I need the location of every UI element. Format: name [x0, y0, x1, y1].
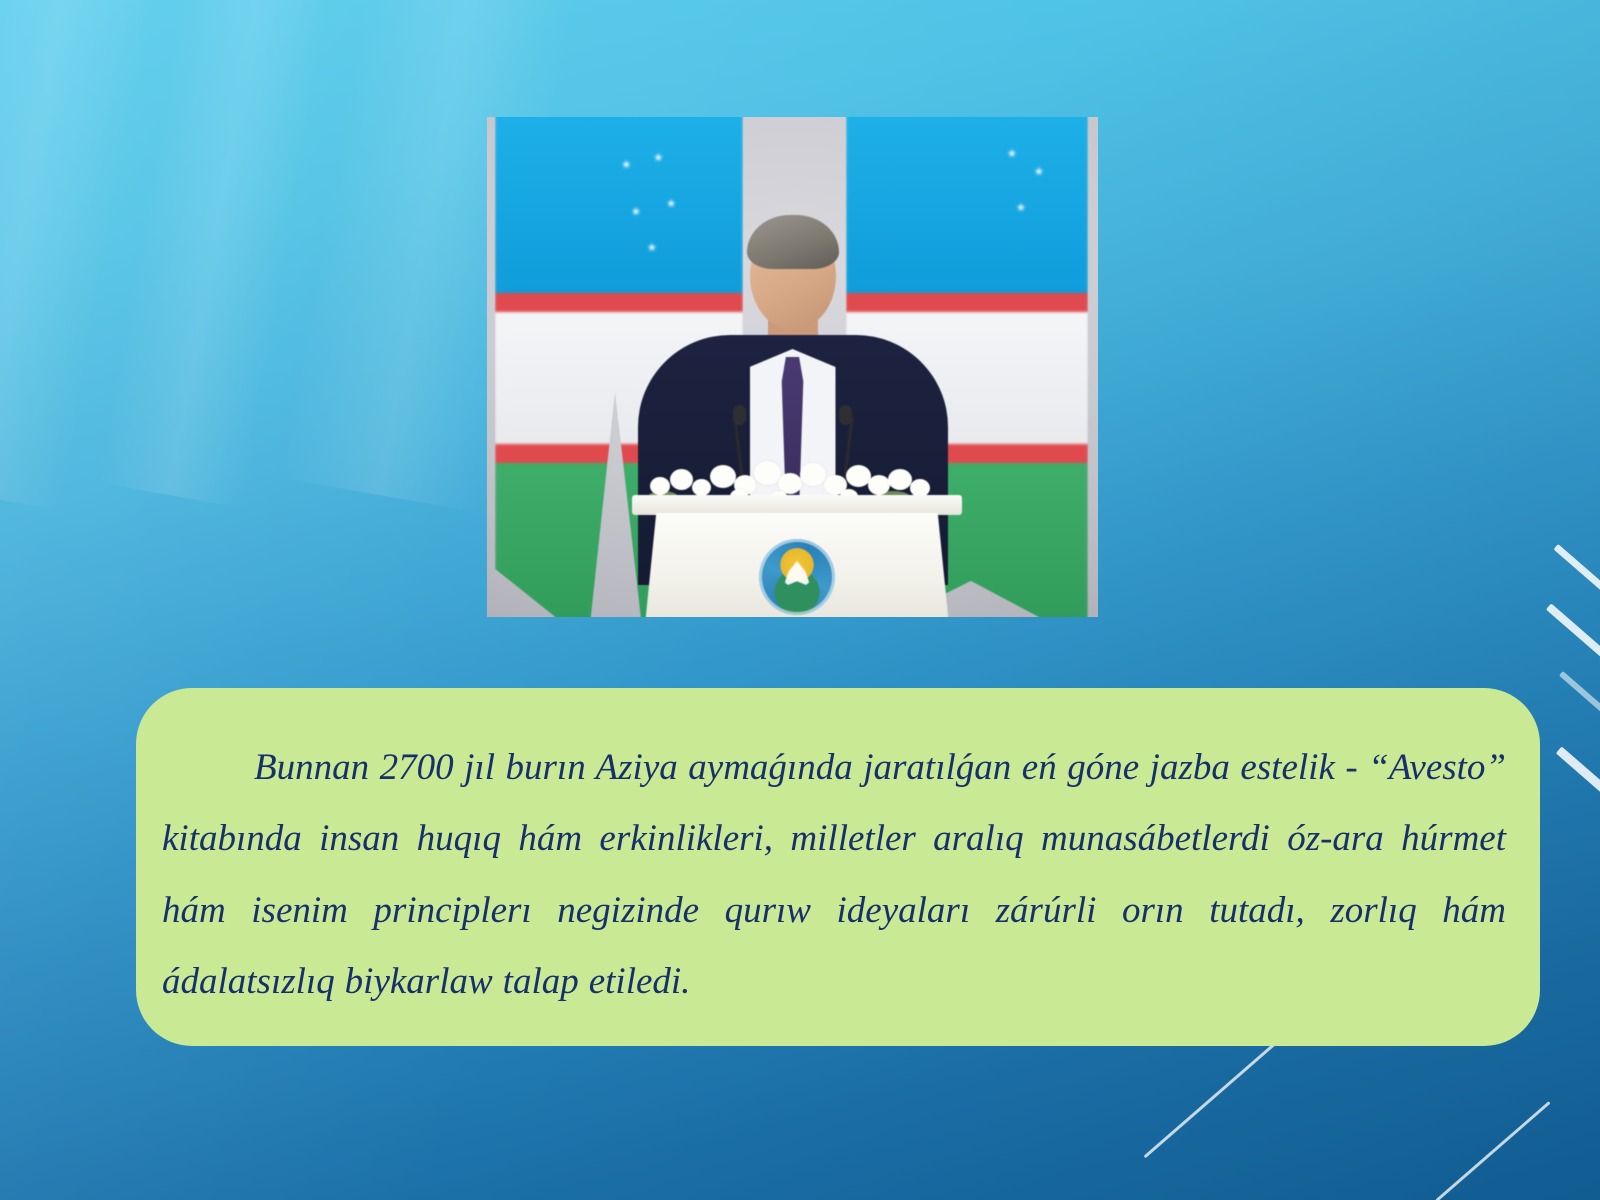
speaker-hair	[747, 215, 839, 269]
quote-text: Bunnan 2700 jıl burın Aziya aymaǵında ja…	[162, 732, 1506, 1018]
presentation-slide: ★ ★ ★ ★ ★ ★ ★ ★	[0, 0, 1600, 1200]
decorative-streak-right-4	[1556, 746, 1600, 874]
photo-scene: ★ ★ ★ ★ ★ ★ ★ ★	[487, 117, 1098, 617]
uzbekistan-state-emblem-icon	[759, 539, 835, 615]
decorative-streak-right-3	[1559, 671, 1600, 787]
background-sheen-2	[96, 0, 355, 508]
podium-top-surface	[632, 495, 962, 515]
microphone-right-head	[839, 405, 852, 425]
background-sheen-1	[0, 0, 174, 511]
decorative-streak-right-2	[1546, 603, 1600, 740]
quote-panel: Bunnan 2700 jıl burın Aziya aymaǵında ja…	[136, 688, 1540, 1046]
decorative-streak-right-1	[1553, 544, 1600, 687]
speaker-photo: ★ ★ ★ ★ ★ ★ ★ ★	[487, 117, 1098, 617]
decorative-streak-bottom-2	[1435, 1101, 1550, 1200]
microphone-left-head	[733, 405, 746, 425]
